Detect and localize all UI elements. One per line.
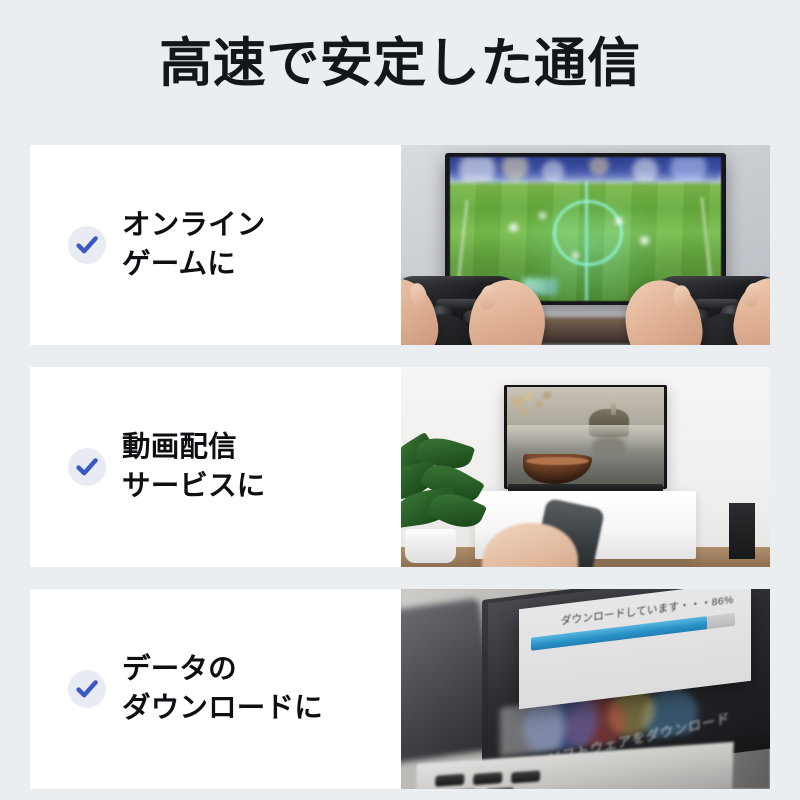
gamepad-left [401,241,541,345]
keyboard-key [435,774,464,787]
card-label: オンライン ゲームに [122,206,266,285]
page-title: 高速で安定した通信 [0,34,800,95]
card-text-side: オンライン ゲームに [30,145,401,345]
floor-speaker [729,503,755,559]
boat-rim [526,457,589,465]
church-spire [611,397,617,415]
player-marker [572,252,579,259]
feature-card-video-streaming: 動画配信 サービスに [30,367,770,567]
feature-card-data-download: データの ダウンロードに ソフトウェアをダウンロード ダウンロードしています・・… [30,589,770,789]
keyboard-key [485,787,514,789]
house-plant [401,439,490,543]
feature-card-online-game: オンライン ゲームに [30,145,770,345]
plant-pot [405,529,457,563]
check-icon [68,448,106,486]
check-icon [68,226,106,264]
progress-bar-fill [531,616,707,651]
tv-screen [507,387,664,486]
gamepad-right [630,241,770,345]
card-label: 動画配信 サービスに [122,428,266,507]
promo-page: 高速で安定した通信 オンライン ゲームに [0,0,800,800]
laptop-download-progress-photo: ソフトウェアをダウンロード ダウンロードしています・・・86% [401,589,770,789]
water-reflection [592,437,627,459]
feature-card-list: オンライン ゲームに [30,145,770,789]
check-icon [68,670,106,708]
keyboard-key [473,772,502,785]
card-label: データの ダウンロードに [122,650,323,729]
card-text-side: 動画配信 サービスに [30,367,401,567]
living-room-tv-remote-photo [401,367,770,567]
gaming-controllers-tv-photo [401,145,770,345]
stadium-crowd [450,157,721,182]
tree-branches [508,390,561,420]
card-text-side: データの ダウンロードに [30,589,401,789]
keyboard-key [511,771,540,784]
player-marker [539,212,546,219]
television [504,385,666,489]
